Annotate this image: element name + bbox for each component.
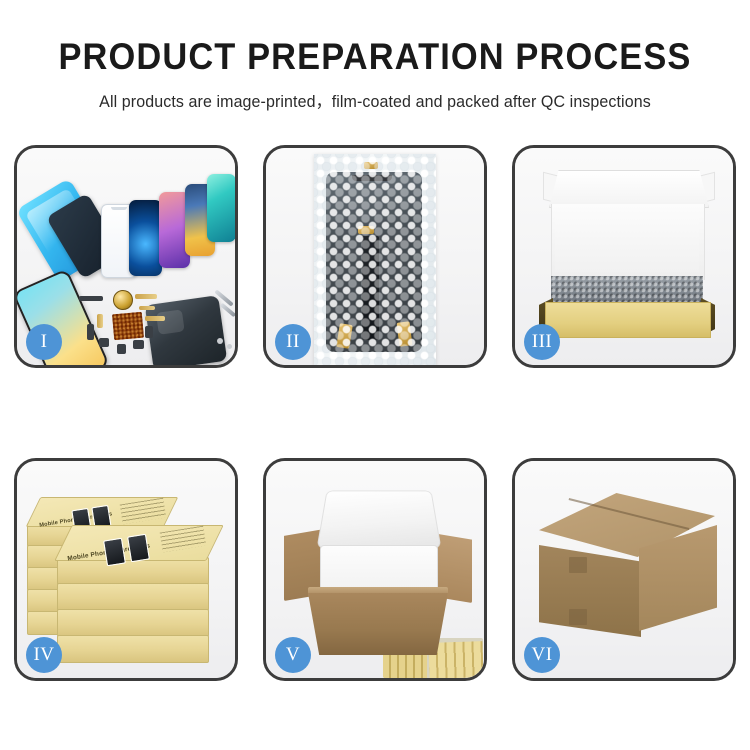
flex-cable-2 <box>139 306 155 310</box>
screw-2 <box>227 344 232 349</box>
step-badge-2: II <box>275 324 311 360</box>
carton-body <box>308 593 448 655</box>
step-badge-1: I <box>26 324 62 360</box>
step-badge-6: VI <box>524 637 560 673</box>
page-title: PRODUCT PREPARATION PROCESS <box>26 38 724 77</box>
carton-tape-upper <box>569 557 587 573</box>
page-subtitle: All products are image-printed，film-coat… <box>11 88 739 112</box>
retail-box-front-3 <box>57 609 209 637</box>
process-step-panel-4: Mobile Phone Spare Parts Mobile Phone Sp… <box>14 458 238 681</box>
carton-tape-lower <box>569 609 587 625</box>
part-strip-6 <box>145 326 153 338</box>
carton-front-face <box>539 545 641 637</box>
gold-tape-top <box>364 162 378 169</box>
box-lid-back <box>549 170 709 208</box>
retail-box-front-thumb-2 <box>127 534 150 563</box>
process-step-panel-6: VI <box>512 458 736 681</box>
phone-display-blue <box>129 200 162 276</box>
flex-cable-4 <box>97 314 103 328</box>
foam-back-sheet <box>555 210 699 272</box>
phone-display-teal <box>207 174 236 242</box>
retail-box-front-4 <box>57 635 209 663</box>
yellow-box-front <box>545 302 711 338</box>
process-step-panel-1: I <box>14 145 238 368</box>
step-badge-5: V <box>275 637 311 673</box>
part-strip-4 <box>117 344 126 354</box>
part-strip-5 <box>133 340 144 349</box>
gold-tape-bottom-right <box>397 321 413 346</box>
retail-box-front-2 <box>57 583 209 611</box>
gold-tape-mid <box>358 226 374 234</box>
part-strip-1 <box>79 296 103 301</box>
retail-box-front-thumb-1 <box>103 538 126 567</box>
phone-back-housing <box>145 295 227 368</box>
process-step-panel-3: III <box>512 145 736 368</box>
process-step-grid: I II <box>14 145 736 681</box>
process-step-panel-2: II <box>263 145 487 368</box>
part-strip-3 <box>99 338 109 347</box>
phone-front-large <box>14 268 110 368</box>
foam-lid <box>317 491 442 549</box>
process-step-panel-5: V <box>263 458 487 681</box>
part-strip-2 <box>87 324 94 340</box>
screw-1 <box>217 338 223 344</box>
flex-cable-1 <box>135 294 157 299</box>
lcd-flex-cable <box>362 236 379 340</box>
speaker-module <box>113 290 133 310</box>
step-badge-4: IV <box>26 637 62 673</box>
step-badge-3: III <box>524 324 560 360</box>
connector-grid <box>112 312 144 341</box>
page-header: PRODUCT PREPARATION PROCESS All products… <box>0 0 750 112</box>
repair-tool-2 <box>220 303 236 318</box>
flex-cable-3 <box>145 316 165 321</box>
